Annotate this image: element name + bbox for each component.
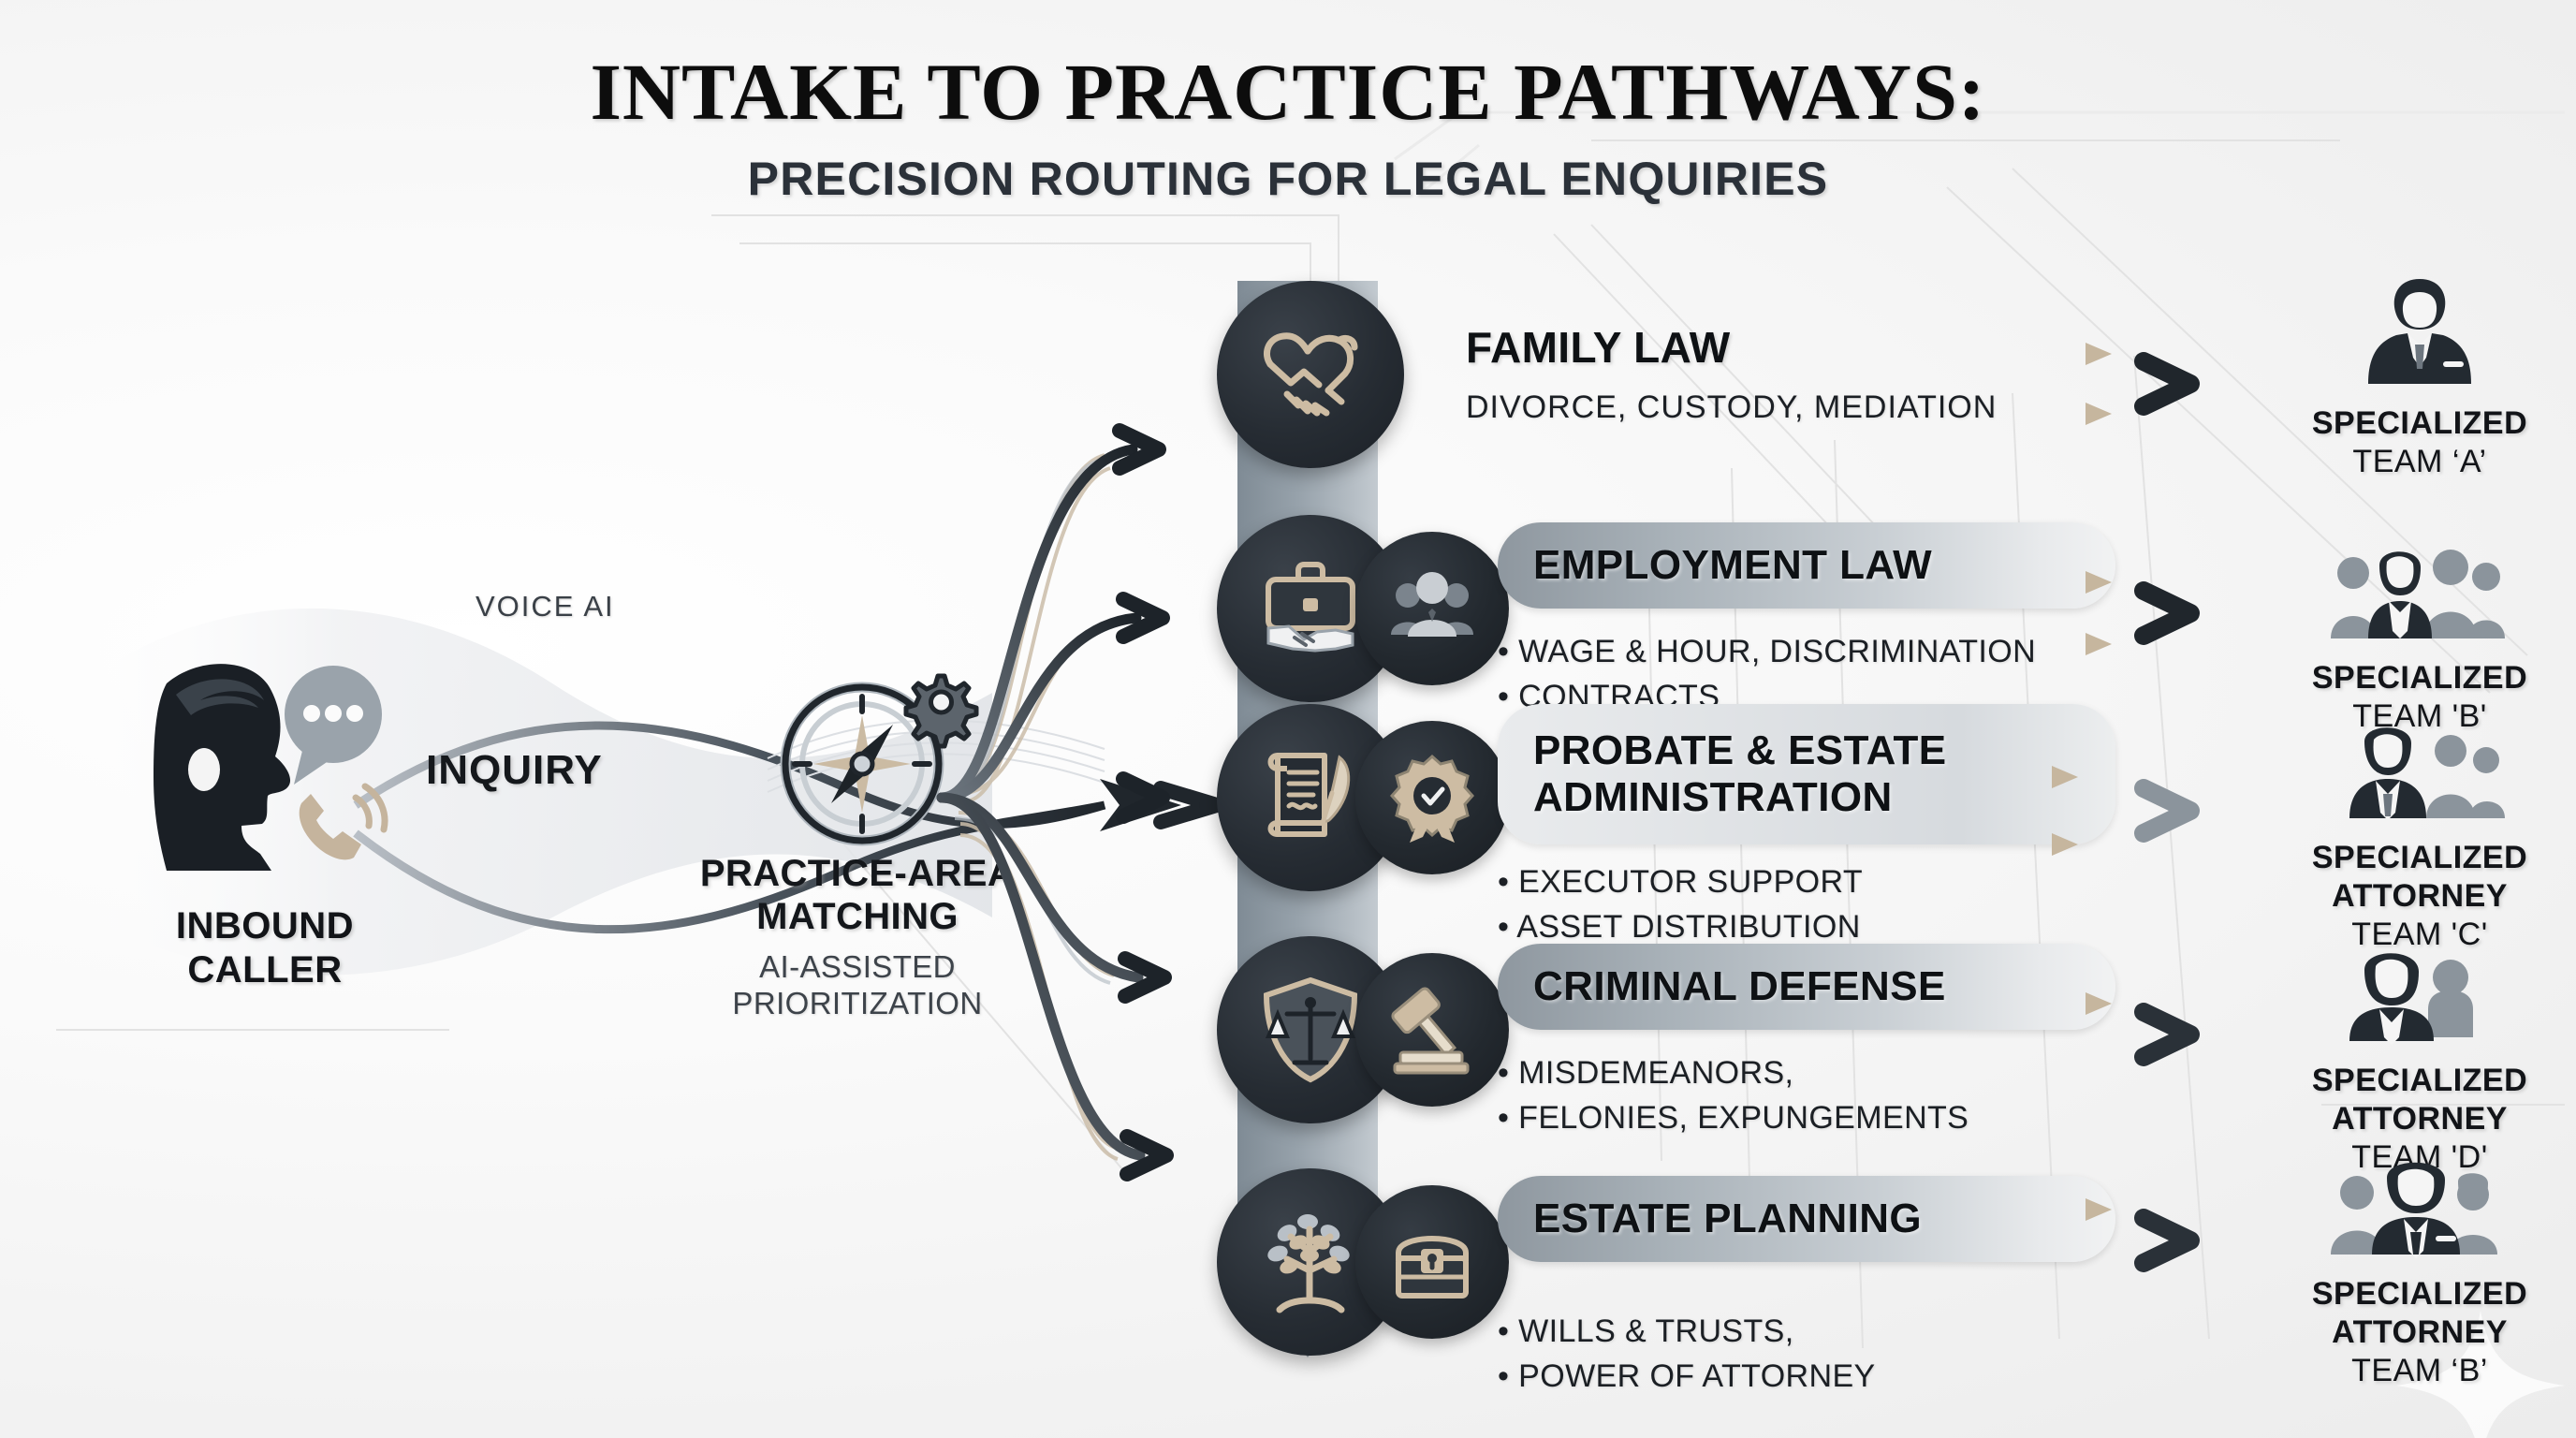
treasure-chest-icon	[1355, 1185, 1509, 1339]
team-line1: SPECIALIZED	[2312, 840, 2527, 875]
caller-label-line2: CALLER	[187, 949, 342, 990]
seal-badge-icon	[1355, 721, 1509, 874]
inbound-caller-node: INBOUND CALLER	[110, 646, 419, 992]
two-women-avatar	[2265, 927, 2574, 1049]
header: INTAKE TO PRACTICE PATHWAYS: PRECISION R…	[0, 45, 2576, 206]
handshake-heart-icon	[1217, 281, 1404, 468]
page-title: INTAKE TO PRACTICE PATHWAYS:	[0, 45, 2576, 139]
team-group-avatar	[2265, 704, 2574, 826]
team-label-a: SPECIALIZED TEAM ‘A’	[2265, 404, 2574, 481]
team-line2: ATTORNEY	[2332, 1314, 2508, 1350]
team-line2: ATTORNEY	[2332, 878, 2508, 914]
team-line2: TEAM ‘A’	[2352, 444, 2486, 479]
team-group-avatar	[2265, 524, 2574, 646]
voice-ai-label: VOICE AI	[476, 590, 615, 624]
inquiry-label: INQUIRY	[426, 747, 603, 794]
inbound-caller-icons	[110, 646, 419, 880]
group-people-icon	[1355, 532, 1509, 685]
team-node-c[interactable]: SPECIALIZED ATTORNEY TEAM 'C'	[2265, 704, 2574, 953]
team-line1: SPECIALIZED	[2312, 660, 2527, 696]
team-line3: TEAM ‘B’	[2351, 1353, 2488, 1388]
routing-arrows	[1685, 281, 2303, 1404]
inbound-caller-label: INBOUND CALLER	[110, 904, 419, 992]
team-line1: SPECIALIZED	[2312, 1063, 2527, 1098]
team-line2: ATTORNEY	[2332, 1101, 2508, 1137]
page-subtitle: PRECISION ROUTING FOR LEGAL ENQUIRIES	[0, 152, 2576, 206]
hub-sub-line1: AI-ASSISTED	[759, 949, 956, 984]
branch-arrows	[936, 281, 1254, 1273]
team-node-d[interactable]: SPECIALIZED ATTORNEY TEAM 'D'	[2265, 927, 2574, 1176]
phone-ringing-icon	[300, 786, 385, 859]
team-node-a[interactable]: SPECIALIZED TEAM ‘A’	[2265, 270, 2574, 481]
person-profile-icon	[154, 664, 290, 871]
team-line1: SPECIALIZED	[2312, 405, 2527, 441]
single-attorney-avatar	[2265, 270, 2574, 391]
team-node-e[interactable]: SPECIALIZED ATTORNEY TEAM ‘B’	[2265, 1140, 2574, 1389]
team-line1: SPECIALIZED	[2312, 1276, 2527, 1312]
speech-bubble-icon	[285, 666, 382, 785]
infographic-canvas: INTAKE TO PRACTICE PATHWAYS: PRECISION R…	[0, 0, 2576, 1438]
team-group-avatar	[2265, 1140, 2574, 1262]
caller-label-line1: INBOUND	[176, 905, 354, 946]
hub-title-line2: MATCHING	[756, 896, 959, 937]
gavel-icon	[1355, 953, 1509, 1107]
team-label-e: SPECIALIZED ATTORNEY TEAM ‘B’	[2265, 1275, 2574, 1389]
